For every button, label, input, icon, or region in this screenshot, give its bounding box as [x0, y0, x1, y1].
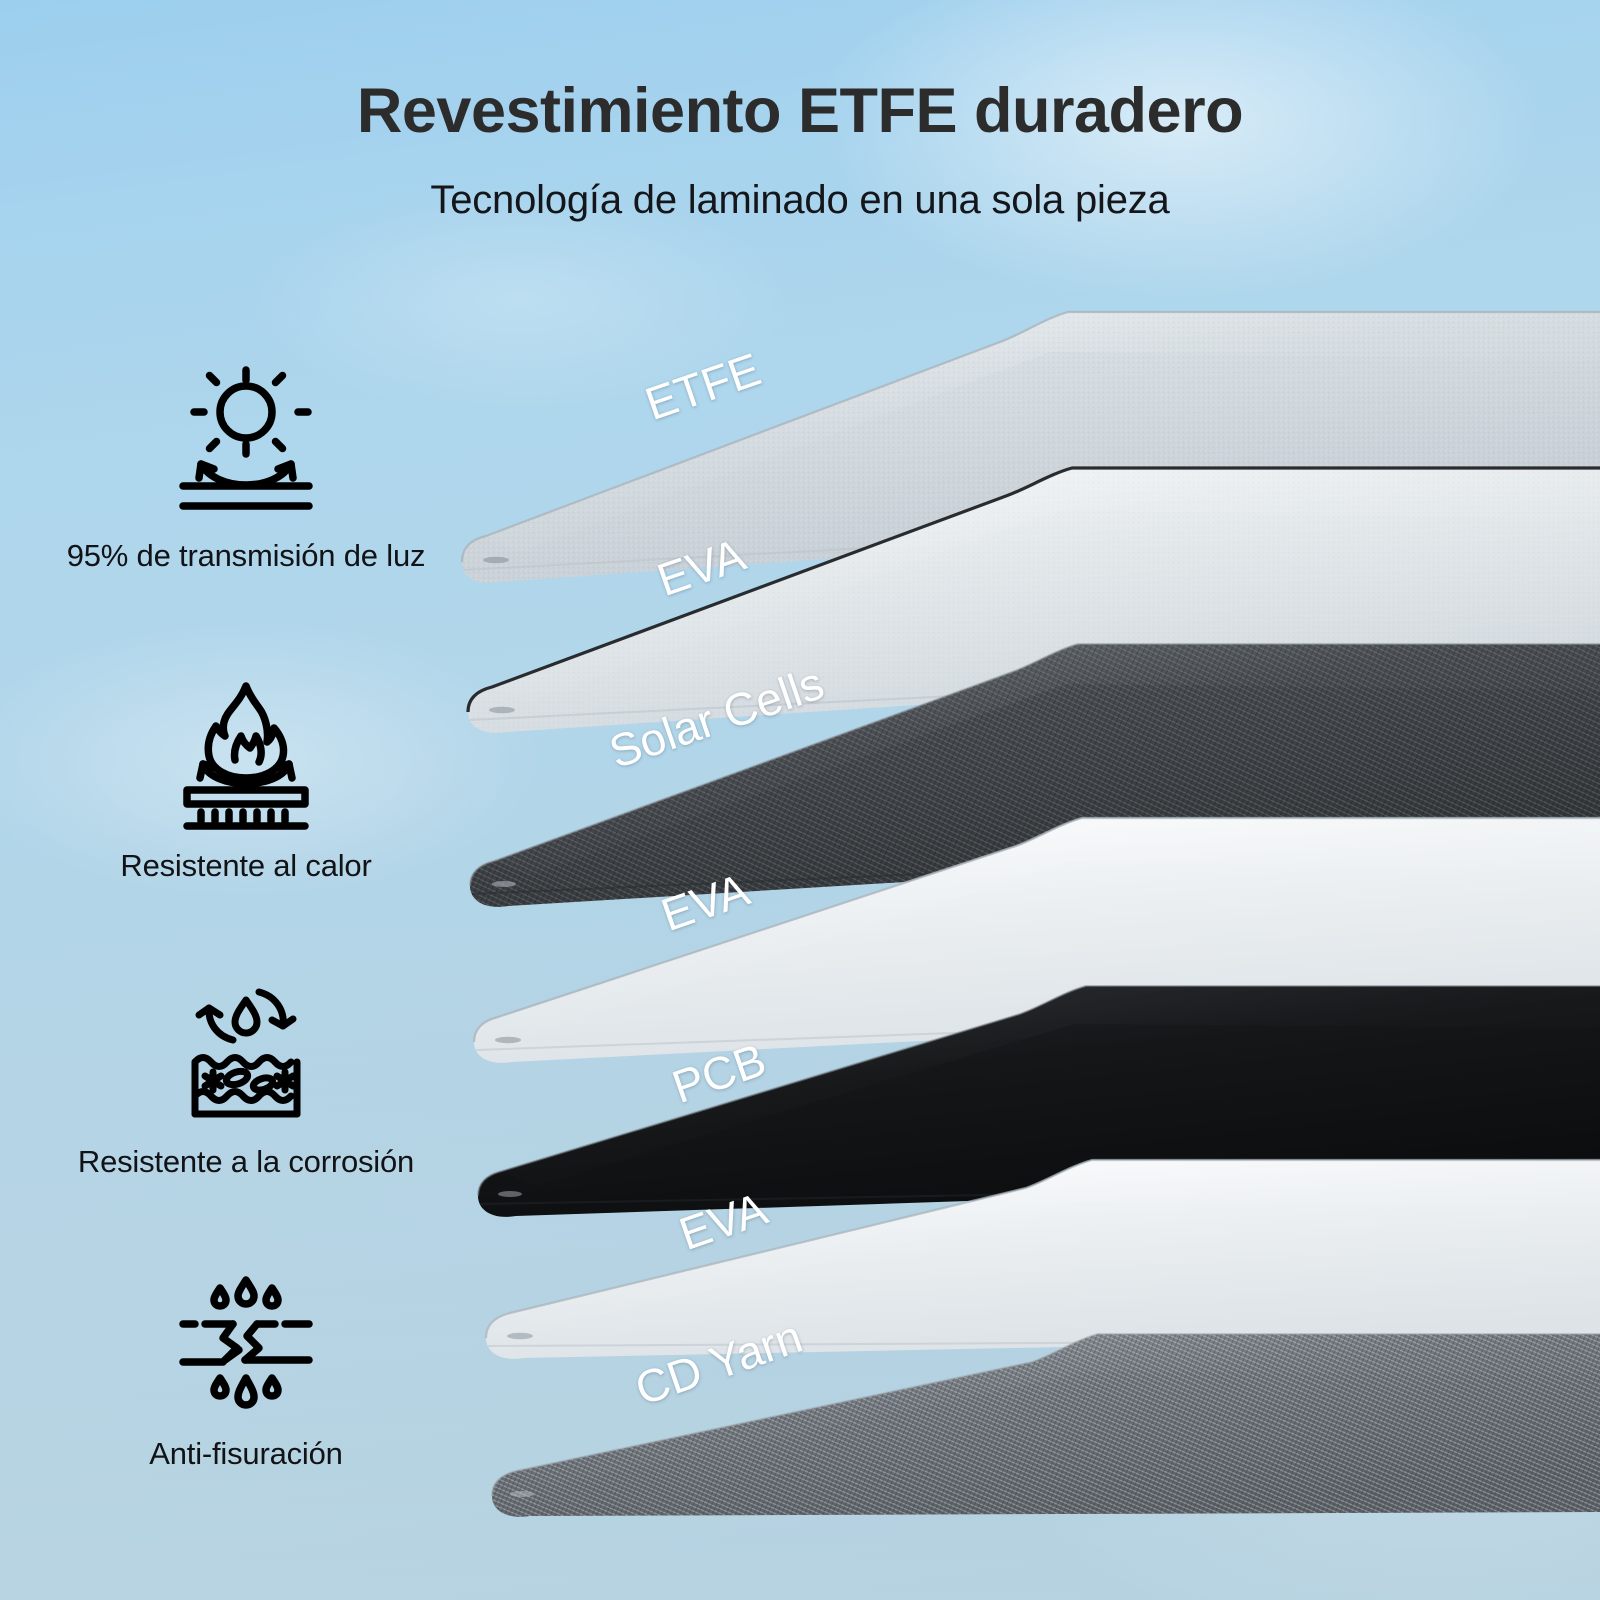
feature-item-light-transmission: 95% de transmisión de luz	[0, 360, 492, 652]
feature-item-corrosion-resistant: Resistente a la corrosión	[0, 976, 492, 1244]
feature-label-heat-resistant: Resistente al calor	[120, 847, 371, 885]
flame-heat-resistant-icon	[161, 678, 331, 835]
feature-item-anti-crack: Anti-fisuración	[0, 1270, 492, 1520]
feature-label-light-transmission: 95% de transmisión de luz	[67, 537, 426, 575]
sun-light-transmission-icon	[161, 360, 331, 525]
feature-list: 95% de transmisión de luz Resistente al …	[0, 360, 492, 1520]
droplet-corrosion-icon	[161, 976, 331, 1131]
crack-anti-fissure-icon	[161, 1270, 331, 1423]
infographic-canvas: Revestimiento ETFE duradero Tecnología d…	[0, 0, 1600, 1600]
feature-item-heat-resistant: Resistente al calor	[0, 678, 492, 950]
feature-label-corrosion-resistant: Resistente a la corrosión	[78, 1143, 414, 1181]
feature-label-anti-crack: Anti-fisuración	[149, 1435, 342, 1473]
